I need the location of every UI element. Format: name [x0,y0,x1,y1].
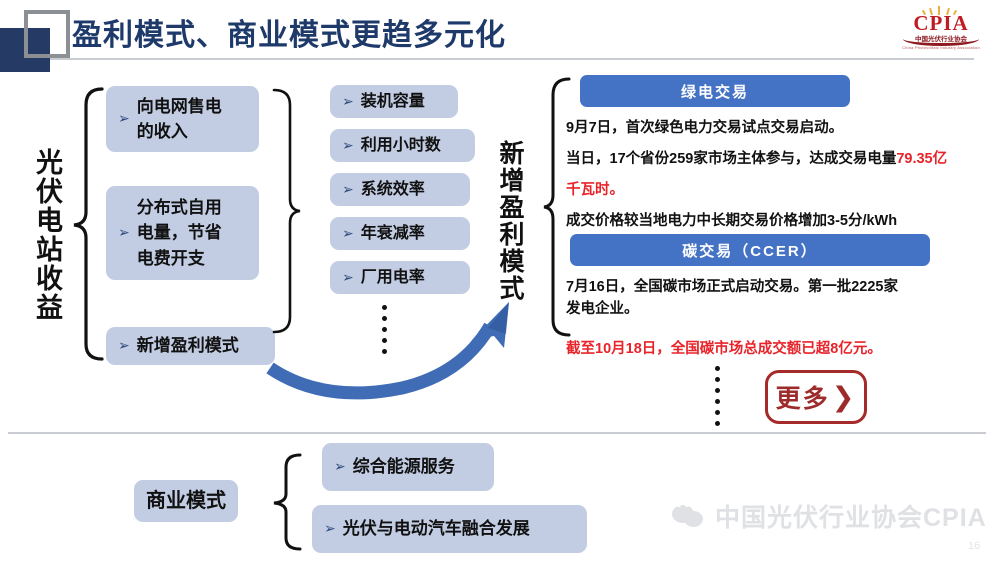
more-button[interactable]: 更多 ❯ [765,370,867,424]
list-item[interactable]: ➢ 年衰减率 [330,217,470,250]
cpia-logo: CPIA 中国光伏行业协会 China Photovoltaic Industr… [893,6,989,52]
list-item[interactable]: ➢ 新增盈利模式 [106,327,275,365]
section-header-green-power: 绿电交易 [580,75,850,107]
green-power-line-3: 千瓦时。 [566,179,986,202]
bullet-arrow-icon: ➢ [342,271,354,285]
text-segment: 7月16日，全国碳市场正式启动交易。第一批2225家 [566,279,898,295]
left-brace [72,86,106,362]
left-section-vertical-label: 光伏电站收益 [28,148,67,322]
logo-sub-en: China Photovoltaic Industry Association [893,45,989,50]
list-item-label: 利用小时数 [361,134,449,158]
bottom-section-label: 商业模式 [134,480,238,522]
bullet-arrow-icon: ➢ [342,183,354,197]
list-item-label: 光伏与电动汽车融合发展 [343,516,538,542]
wechat-icon [672,503,706,529]
list-item[interactable]: ➢ 光伏与电动汽车融合发展 [312,505,587,553]
bullet-arrow-icon: ➢ [334,460,346,474]
middle-brace [272,88,302,336]
list-item-label: 向电网售电 的收入 [137,94,230,145]
list-item[interactable]: ➢ 装机容量 [330,85,458,118]
highlight-statement: 截至10月18日，全国碳市场总成交额已超8亿元。 [566,338,986,361]
section-divider [8,432,986,434]
watermark: 中国光伏行业协会CPIA [672,498,987,534]
watermark-text: 中国光伏行业协会CPIA [715,498,987,534]
text-segment: 发电企业。 [566,301,639,317]
logo-text: CPIA [893,12,989,34]
title-underline [44,58,974,60]
list-item-label: 分布式自用 电量，节省 电费开支 [137,195,230,272]
section-header-carbon-trading: 碳交易（CCER） [570,234,930,266]
list-item[interactable]: ➢ 利用小时数 [330,129,475,162]
bullet-arrow-icon: ➢ [118,226,130,240]
list-item[interactable]: ➢ 向电网售电 的收入 [106,86,259,152]
carbon-line-2: 发电企业。 [566,298,986,321]
bullet-arrow-icon: ➢ [118,339,130,353]
bullet-arrow-icon: ➢ [342,139,354,153]
text-segment-highlight: 千瓦时。 [566,182,624,198]
list-item-label: 厂用电率 [361,266,433,290]
page-number: 16 [968,540,980,552]
text-segment: 成交价格较当地电力中长期交易价格增加3-5分/kWh [566,213,897,229]
bullet-arrow-icon: ➢ [118,112,130,126]
bottom-brace [270,452,304,552]
bullet-arrow-icon: ➢ [342,227,354,241]
text-segment: 当日，17个省份259家市场主体参与，达成交易电量 [566,151,896,167]
middle-section-vertical-label: 新增盈利模式 [492,140,528,302]
list-item-label: 新增盈利模式 [137,333,247,359]
logo-sub-cn: 中国光伏行业协会 [893,36,989,43]
text-segment-highlight: 79.35亿 [896,151,947,167]
list-item[interactable]: ➢ 综合能源服务 [322,443,494,491]
green-power-line-4: 成交价格较当地电力中长期交易价格增加3-5分/kWh [566,210,986,233]
list-item-label: 综合能源服务 [353,454,463,480]
bullet-arrow-icon: ➢ [342,95,354,109]
list-item[interactable]: ➢ 分布式自用 电量，节省 电费开支 [106,186,259,280]
green-power-line-2: 当日，17个省份259家市场主体参与，达成交易电量79.35亿 [566,148,986,171]
more-button-label: 更多 [776,379,830,415]
green-power-line-1: 9月7日，首次绿色电力交易试点交易启动。 [566,117,986,140]
text-segment: 9月7日，首次绿色电力交易试点交易启动。 [566,120,843,136]
list-item-label: 系统效率 [361,178,433,202]
carbon-line-1: 7月16日，全国碳市场正式启动交易。第一批2225家 [566,276,986,299]
chevron-right-icon: ❯ [832,382,857,413]
page-title: 盈利模式、商业模式更趋多元化 [72,14,506,58]
upward-curve-arrow-icon [262,300,522,410]
list-item[interactable]: ➢ 系统效率 [330,173,470,206]
decor-square-outline [24,10,70,58]
list-item-label: 年衰减率 [361,222,433,246]
slide-canvas: 盈利模式、商业模式更趋多元化 CPIA 中国光伏行业协会 China Photo… [0,0,1000,562]
bullet-arrow-icon: ➢ [324,522,336,536]
right-ellipsis-dots [715,363,720,429]
list-item-label: 装机容量 [361,90,433,114]
bottom-label-text: 商业模式 [146,486,226,516]
list-item[interactable]: ➢ 厂用电率 [330,261,470,294]
